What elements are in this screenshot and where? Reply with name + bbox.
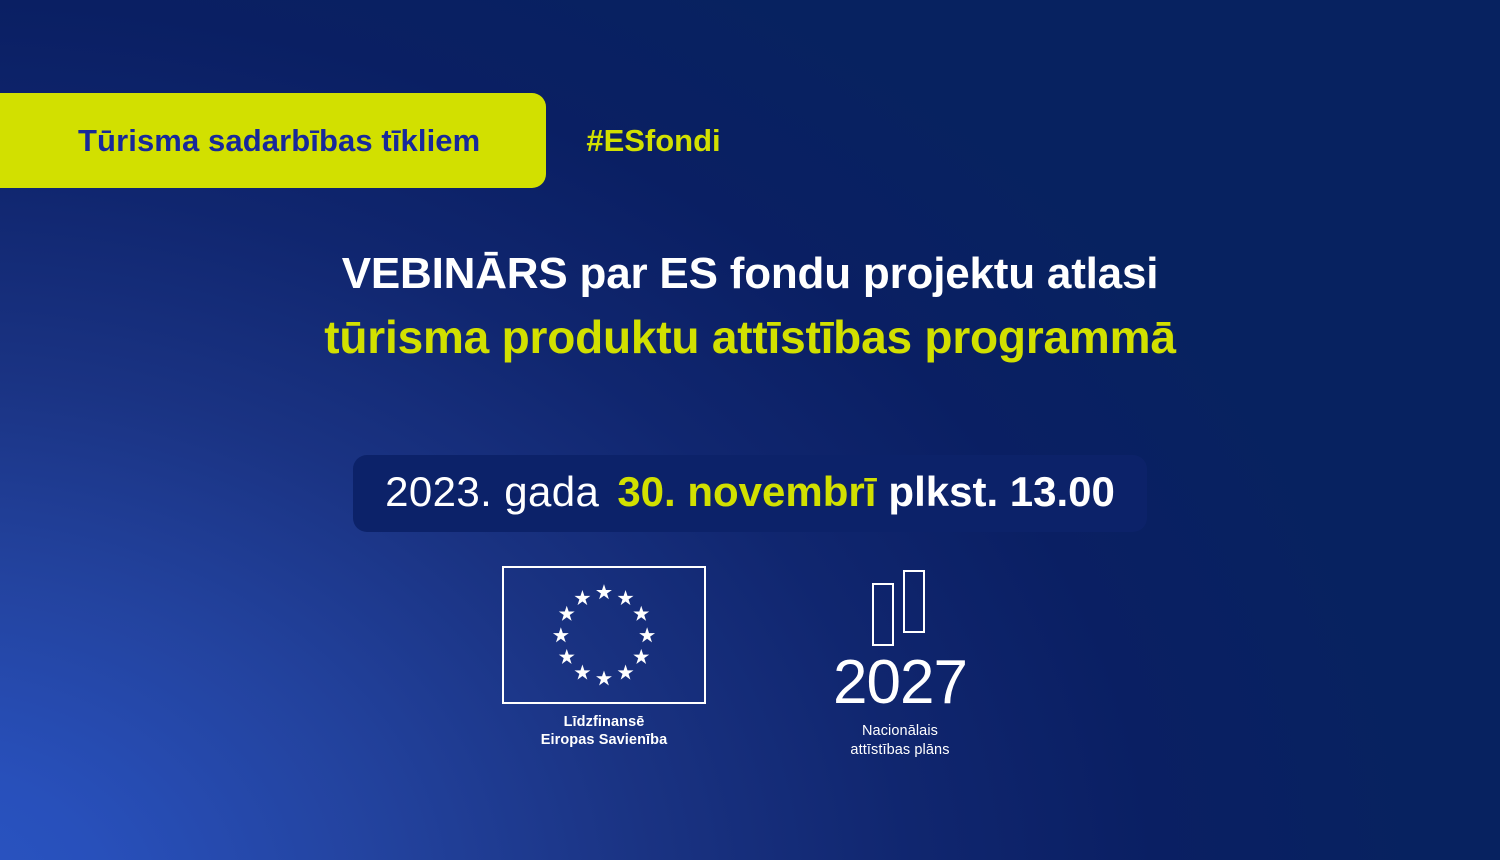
nap-caption-line-1: Nacionālais: [850, 722, 949, 741]
headline-line-1: VEBINĀRS par ES fondu projektu atlasi: [0, 243, 1500, 305]
campaign-tag-label: Tūrisma sadarbības tīkliem: [78, 125, 480, 156]
headline-line-2: tūrisma produktu attīstības programmā: [0, 305, 1500, 369]
tag-bar: Tūrisma sadarbības tīkliem #ESfondi: [0, 93, 721, 188]
campaign-tag-pill: Tūrisma sadarbības tīkliem: [0, 93, 546, 188]
date-block: 2023. gada 30. novembrī plkst. 13.00: [0, 455, 1500, 532]
event-date-year: 2023. gada: [385, 468, 599, 516]
headline-block: VEBINĀRS par ES fondu projektu atlasi tū…: [0, 243, 1500, 369]
nap-caption-line-2: attīstības plāns: [850, 741, 949, 760]
event-time: plkst. 13.00: [888, 468, 1114, 516]
nap-bar-right: [903, 570, 925, 633]
nap-2027-logo: 2027 Nacionālais attīstības plāns: [800, 566, 1000, 760]
nap-bar-left: [872, 583, 894, 646]
eu-funding-logo: Līdzfinansē Eiropas Savienība: [500, 566, 708, 749]
poster-canvas: Tūrisma sadarbības tīkliem #ESfondi VEBI…: [0, 0, 1500, 860]
eu-stars-icon: [504, 568, 704, 703]
event-date-day: 30. novembrī: [617, 468, 876, 516]
nap-bars-icon: [872, 570, 928, 646]
hashtag-label: #ESfondi: [586, 125, 720, 156]
event-date-pill: 2023. gada 30. novembrī plkst. 13.00: [353, 455, 1147, 532]
logo-row: Līdzfinansē Eiropas Savienība 2027 Nacio…: [0, 566, 1500, 760]
nap-logo-caption: Nacionālais attīstības plāns: [850, 722, 949, 760]
eu-caption-line-1: Līdzfinansē: [541, 713, 668, 731]
eu-logo-caption: Līdzfinansē Eiropas Savienība: [541, 713, 668, 749]
eu-caption-line-2: Eiropas Savienība: [541, 731, 668, 749]
nap-year-label: 2027: [833, 652, 967, 714]
eu-flag-icon: [502, 566, 706, 704]
